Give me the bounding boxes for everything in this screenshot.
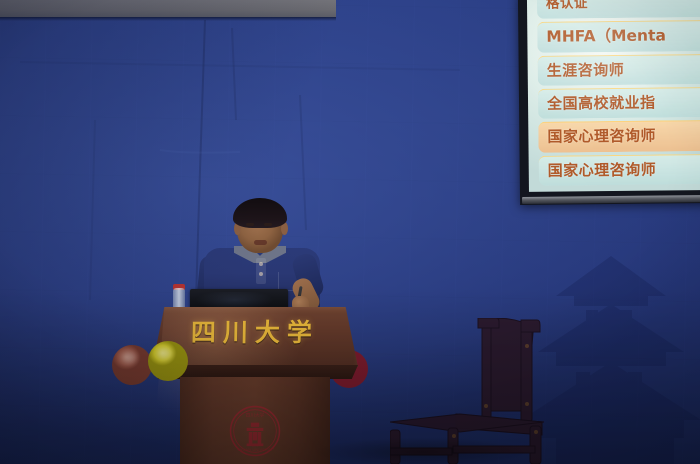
- slide-row: 全国高校就业指: [538, 87, 700, 120]
- slide-row: 国家心理咨询师: [539, 153, 700, 186]
- slide-content: 格认证 MHFA（Menta 生涯咨询师 全国高校就业指 国家心理咨询师 国家心…: [537, 0, 700, 186]
- polo-button: [259, 262, 263, 266]
- photo-scene: 格认证 MHFA（Menta 生涯咨询师 全国高校就业指 国家心理咨询师 国家心…: [0, 0, 700, 464]
- ceiling-band: [0, 0, 336, 17]
- slide-row-highlighted: 国家心理咨询师: [538, 120, 700, 153]
- slide-row-text: 国家心理咨询师: [547, 129, 656, 145]
- slide-row-text: 国家心理咨询师: [548, 162, 657, 178]
- slide-row-text: 全国高校就业指: [547, 96, 656, 112]
- slide-row: 生涯咨询师: [538, 53, 700, 86]
- slide-row-text: 生涯咨询师: [547, 63, 625, 79]
- slide-row-text: MHFA（Menta: [546, 29, 666, 46]
- lectern: 四川大学 四川大学 SICHUAN UNIVERSITY 1896: [152, 307, 358, 464]
- speaker-eye: [264, 223, 272, 226]
- projection-screen: 格认证 MHFA（Menta 生涯咨询师 全国高校就业指 国家心理咨询师 国家心…: [518, 0, 700, 205]
- speaker-hair: [233, 198, 287, 228]
- slide-row: MHFA（Menta: [537, 20, 700, 53]
- lectern-university-name: 四川大学: [152, 313, 359, 349]
- speaker-eye: [246, 223, 254, 226]
- speaker-mouth: [254, 240, 267, 245]
- balloon-yellow: [148, 341, 188, 381]
- seal-year: 1896: [252, 444, 259, 448]
- seal-cn-text: 四川大学: [246, 411, 265, 418]
- slide-row: 格认证: [537, 0, 700, 19]
- screen-surface: 格认证 MHFA（Menta 生涯咨询师 全国高校就业指 国家心理咨询师 国家心…: [527, 0, 700, 192]
- slide-row-text: 格认证: [546, 0, 588, 11]
- seal-en-text: SICHUAN UNIVERSITY: [233, 448, 278, 452]
- balloon-orange: [112, 345, 152, 385]
- polo-button: [259, 272, 263, 276]
- floor-shadow: [272, 432, 572, 464]
